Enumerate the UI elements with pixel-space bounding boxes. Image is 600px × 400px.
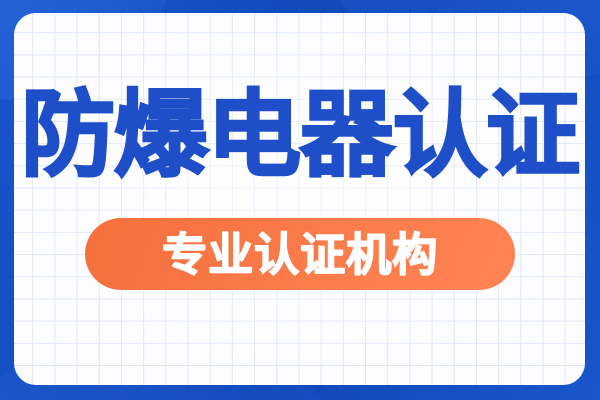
page-title: 防爆电器认证 — [0, 88, 600, 182]
banner-content: 防爆电器认证 专业认证机构 — [0, 0, 600, 400]
badge-row: 专业认证机构 — [0, 218, 600, 290]
certification-badge-label: 专业认证机构 — [162, 232, 438, 277]
promo-banner: 防爆电器认证 专业认证机构 — [0, 0, 600, 400]
certification-badge[interactable]: 专业认证机构 — [85, 218, 515, 290]
